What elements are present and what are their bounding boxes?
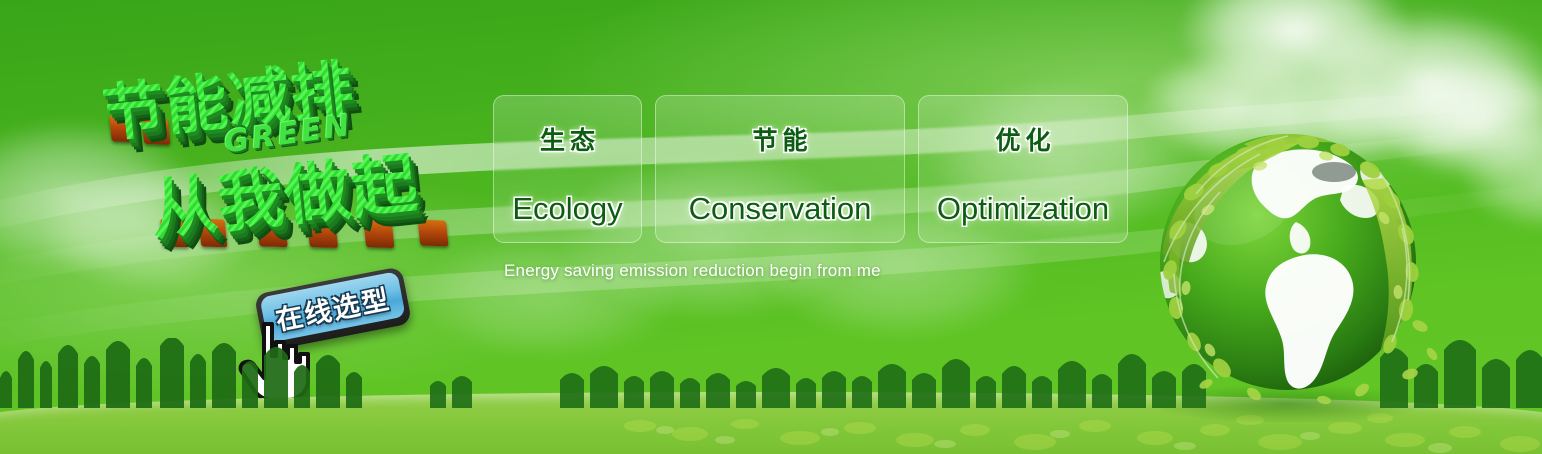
banner-tagline: Energy saving emission reduction begin f…	[504, 261, 881, 281]
feature-card-optimization[interactable]: 优化 Optimization	[918, 95, 1128, 243]
feature-card-ecology[interactable]: 生态 Ecology	[493, 95, 642, 243]
leafy-earth-globe-icon	[1148, 122, 1440, 422]
hero-banner: 节能减排 节能减排 节能减排 节能减排 节能减排 GREEN 从我做起 从我做起…	[0, 0, 1542, 454]
feature-card-cn-label: 生态	[535, 121, 600, 157]
headline-3d: 节能减排 节能减排 节能减排 节能减排 节能减排 GREEN 从我做起 从我做起…	[89, 18, 501, 288]
feature-card-cn-label: 优化	[990, 121, 1055, 157]
feature-card-cn-label: 节能	[747, 121, 812, 157]
feature-card-conservation[interactable]: 节能 Conservation	[655, 95, 905, 243]
feature-card-en-label: Optimization	[937, 191, 1109, 227]
feature-card-en-label: Conservation	[689, 191, 872, 227]
feature-card-list: 生态 Ecology 节能 Conservation 优化 Optimizati…	[493, 95, 1128, 243]
feature-card-en-label: Ecology	[512, 191, 622, 227]
